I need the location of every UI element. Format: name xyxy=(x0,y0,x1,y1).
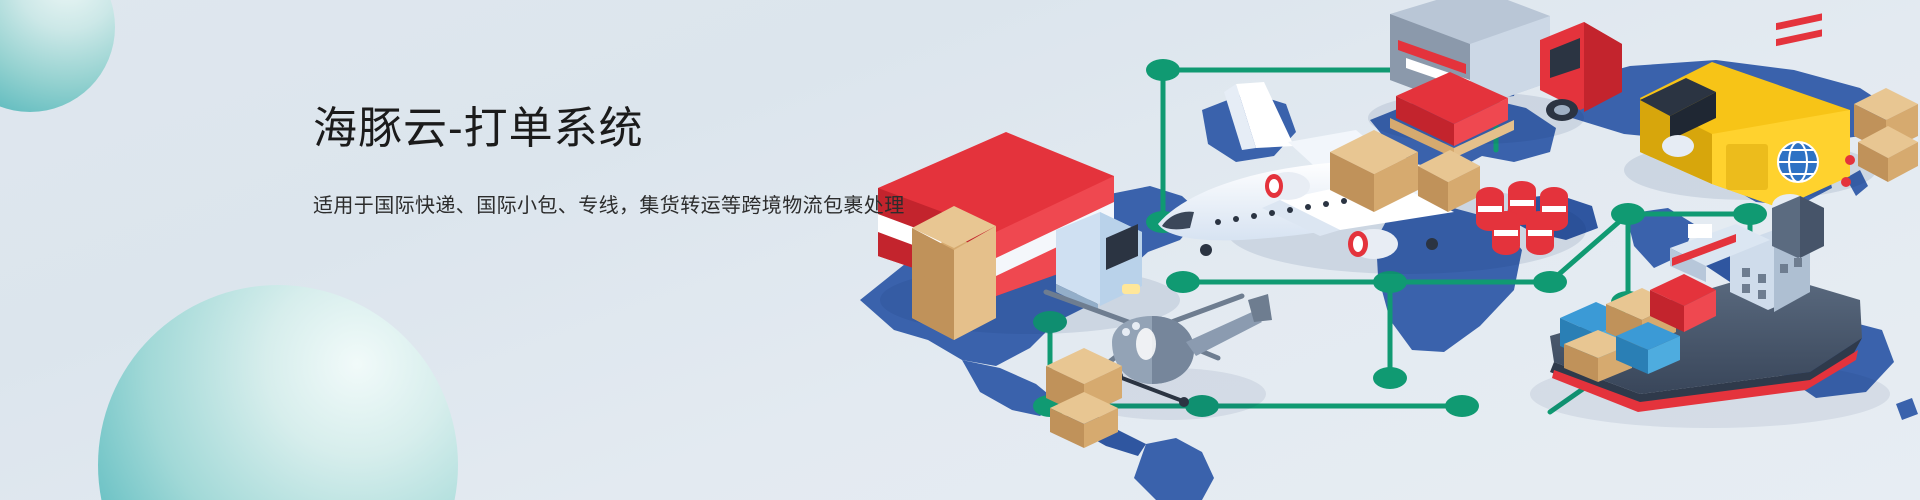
decorative-circle-bottom-left xyxy=(98,285,458,500)
banner-text-block: 海豚云-打单系统 适用于国际快递、国际小包、专线，集货转运等跨境物流包裹处理 xyxy=(313,103,905,220)
cardboard-boxes-left-icon xyxy=(1046,348,1122,448)
page-subtitle: 适用于国际快递、国际小包、专线，集货转运等跨境物流包裹处理 xyxy=(313,192,905,220)
cardboard-box-stack-icon xyxy=(912,206,996,340)
decorative-circle-top-left xyxy=(0,0,115,112)
yellow-van-icon xyxy=(1624,62,1918,218)
hero-banner: 海豚云-打单系统 适用于国际快递、国际小包、专线，集货转运等跨境物流包裹处理 xyxy=(0,0,1920,500)
page-title: 海豚云-打单系统 xyxy=(313,103,905,156)
illustration-svg xyxy=(850,0,1920,500)
logistics-illustration xyxy=(850,0,1920,500)
